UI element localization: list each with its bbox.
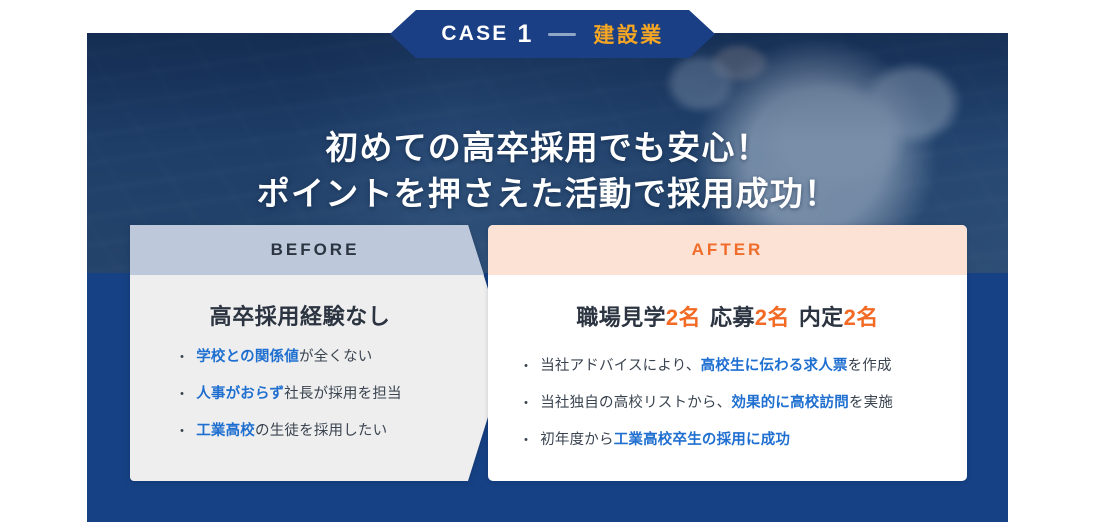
highlight: 高校生に伝わる求人票 xyxy=(701,358,848,374)
plain: 初年度から xyxy=(540,432,614,448)
case-number: 1 xyxy=(518,20,532,49)
list-item-text: 学校との関係値が全くない xyxy=(196,347,475,367)
case-study-card: 初めての高卒採用でも安心！ ポイントを押さえた活動で採用成功！ BEFORE 高… xyxy=(87,33,1008,522)
after-title-seg3-label: 内定 xyxy=(799,305,844,330)
before-panel: BEFORE 高卒採用経験なし ・ 学校との関係値が全くない ・ 人事がおらず社… xyxy=(130,225,508,481)
list-item-text: 当社独自の高校リストから、効果的に高校訪問を実施 xyxy=(540,393,949,413)
highlight: 効果的に高校訪問 xyxy=(731,395,849,411)
plain: 当社独自の高校リストから、 xyxy=(540,395,731,411)
headline-line-2: ポイントを押さえた活動で採用成功！ xyxy=(87,171,1008,217)
bullet-marker-icon: ・ xyxy=(175,421,189,441)
before-title: 高卒採用経験なし xyxy=(130,299,470,331)
bullet-marker-icon: ・ xyxy=(519,393,533,413)
plain: 当社アドバイスにより、 xyxy=(540,358,700,374)
case-industry: 建設業 xyxy=(593,19,663,49)
list-item: ・ 工業高校の生徒を採用したい xyxy=(175,421,475,441)
bullet-marker-icon: ・ xyxy=(519,356,533,376)
list-item: ・ 学校との関係値が全くない xyxy=(175,347,475,367)
highlight: 工業高校卒生の採用に成功 xyxy=(614,432,790,448)
divider-dash-icon xyxy=(548,33,576,36)
list-item-text: 初年度から工業高校卒生の採用に成功 xyxy=(540,430,949,450)
highlight: 工業高校 xyxy=(196,423,255,439)
plain: を実施 xyxy=(849,395,893,411)
headline: 初めての高卒採用でも安心！ ポイントを押さえた活動で採用成功！ xyxy=(87,125,1008,217)
headline-line-1: 初めての高卒採用でも安心！ xyxy=(87,125,1008,171)
list-item-text: 当社アドバイスにより、高校生に伝わる求人票を作成 xyxy=(540,356,949,376)
plain: が全くない xyxy=(299,349,373,365)
highlight: 学校との関係値 xyxy=(196,349,299,365)
after-header: AFTER xyxy=(488,225,967,275)
after-title-seg1-label: 職場見学 xyxy=(576,305,666,330)
after-title-seg2-number: 2名 xyxy=(755,305,790,330)
case-banner: CASE 1 建設業 xyxy=(390,10,715,58)
plain: を作成 xyxy=(848,358,892,374)
after-bullet-list: ・ 当社アドバイスにより、高校生に伝わる求人票を作成 ・ 当社独自の高校リストか… xyxy=(519,356,949,450)
plain: 社長が採用を担当 xyxy=(284,386,402,402)
before-bullet-list: ・ 学校との関係値が全くない ・ 人事がおらず社長が採用を担当 ・ 工業高校の生… xyxy=(175,347,475,458)
bullet-marker-icon: ・ xyxy=(175,347,189,367)
list-item: ・ 当社アドバイスにより、高校生に伝わる求人票を作成 xyxy=(519,356,949,376)
after-panel: AFTER 職場見学2名応募2名内定2名 ・ 当社アドバイスにより、高校生に伝わ… xyxy=(488,225,967,481)
after-title-seg2-label: 応募 xyxy=(710,305,755,330)
plain: の生徒を採用したい xyxy=(255,423,387,439)
list-item: ・ 当社独自の高校リストから、効果的に高校訪問を実施 xyxy=(519,393,949,413)
case-word: CASE xyxy=(441,22,508,46)
list-item: ・ 初年度から工業高校卒生の採用に成功 xyxy=(519,430,949,450)
before-header: BEFORE xyxy=(130,225,508,275)
before-label: BEFORE xyxy=(271,240,368,260)
after-label: AFTER xyxy=(692,240,764,260)
list-item-text: 人事がおらず社長が採用を担当 xyxy=(196,384,475,404)
after-title: 職場見学2名応募2名内定2名 xyxy=(488,300,967,332)
after-title-seg1-number: 2名 xyxy=(666,305,701,330)
list-item: ・ 人事がおらず社長が採用を担当 xyxy=(175,384,475,404)
bullet-marker-icon: ・ xyxy=(175,384,189,404)
after-title-seg3-number: 2名 xyxy=(844,305,879,330)
highlight: 人事がおらず xyxy=(196,386,284,402)
bullet-marker-icon: ・ xyxy=(519,430,533,450)
list-item-text: 工業高校の生徒を採用したい xyxy=(196,421,475,441)
